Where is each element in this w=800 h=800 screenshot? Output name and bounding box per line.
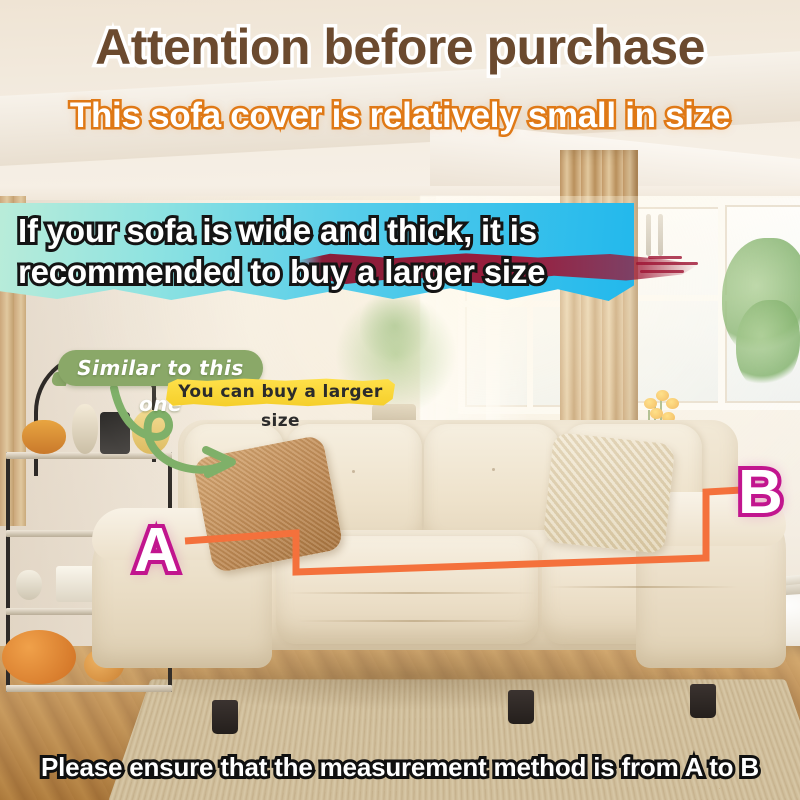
marker-a: A [134, 520, 179, 582]
promo-image: Attention before purchase This sofa cove… [0, 0, 800, 800]
throw-pillow-cream [543, 432, 676, 554]
banner-line-1: If your sofa is wide and thick, it is [18, 212, 537, 249]
page-title: Attention before purchase [0, 18, 800, 76]
marker-b: B [738, 462, 783, 524]
bottom-caption: Please ensure that the measurement metho… [0, 752, 800, 783]
throw-pillow-brown [192, 434, 344, 573]
banner-line-2: recommended to buy a larger size [18, 251, 618, 292]
callout-larger-size-label: You can buy a larger size [166, 378, 395, 407]
sofa-leg [508, 690, 534, 724]
banner-text: If your sofa is wide and thick, it is re… [18, 210, 618, 292]
page-subtitle: This sofa cover is relatively small in s… [0, 96, 800, 136]
sofa-leg [212, 700, 238, 734]
sofa-leg [690, 684, 716, 718]
